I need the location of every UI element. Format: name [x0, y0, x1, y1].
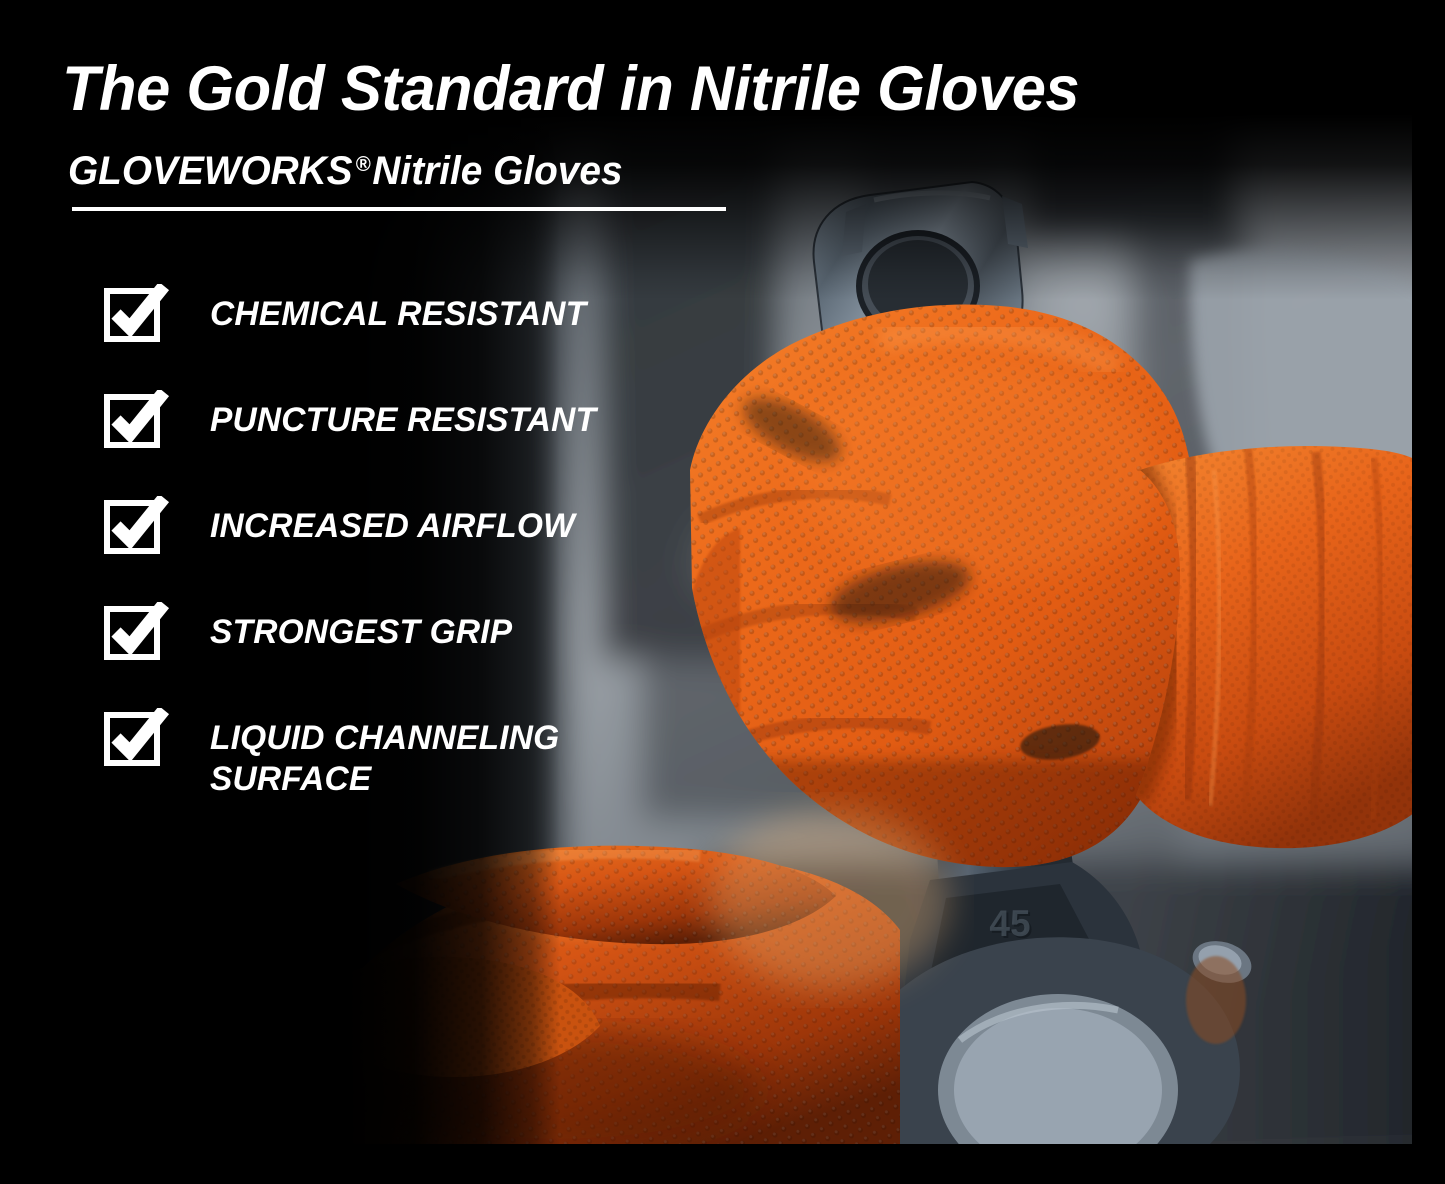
feature-label: PUNCTURE RESISTANT	[210, 394, 596, 441]
feature-label: LIQUID CHANNELING SURFACE	[210, 712, 559, 801]
checked-checkbox-icon	[104, 284, 170, 342]
feature-label: INCREASED AIRFLOW	[210, 500, 575, 547]
product-feature-poster: 45 45	[0, 0, 1445, 1184]
checked-checkbox-icon	[104, 390, 170, 448]
brand-subtitle-text: GLOVEWORKS®Nitrile Gloves	[68, 150, 766, 192]
list-item: LIQUID CHANNELING SURFACE	[104, 712, 744, 801]
poster-content: The Gold Standard in Nitrile Gloves GLOV…	[0, 0, 1445, 1184]
page-title: The Gold Standard in Nitrile Gloves	[62, 58, 1359, 121]
list-item: STRONGEST GRIP	[104, 606, 744, 664]
subtitle-divider	[72, 207, 726, 211]
list-item: INCREASED AIRFLOW	[104, 500, 744, 558]
product-name: Nitrile Gloves	[372, 149, 622, 193]
checked-checkbox-icon	[104, 708, 170, 766]
feature-list: CHEMICAL RESISTANT PUNCTURE RESISTANT	[104, 288, 744, 801]
list-item: CHEMICAL RESISTANT	[104, 288, 744, 346]
registered-trademark-icon: ®	[353, 153, 373, 176]
feature-label: CHEMICAL RESISTANT	[210, 288, 586, 335]
list-item: PUNCTURE RESISTANT	[104, 394, 744, 452]
brand-subtitle: GLOVEWORKS®Nitrile Gloves	[68, 150, 788, 192]
checked-checkbox-icon	[104, 496, 170, 554]
brand-name: GLOVEWORKS	[68, 149, 353, 193]
feature-label: STRONGEST GRIP	[210, 606, 512, 653]
checked-checkbox-icon	[104, 602, 170, 660]
